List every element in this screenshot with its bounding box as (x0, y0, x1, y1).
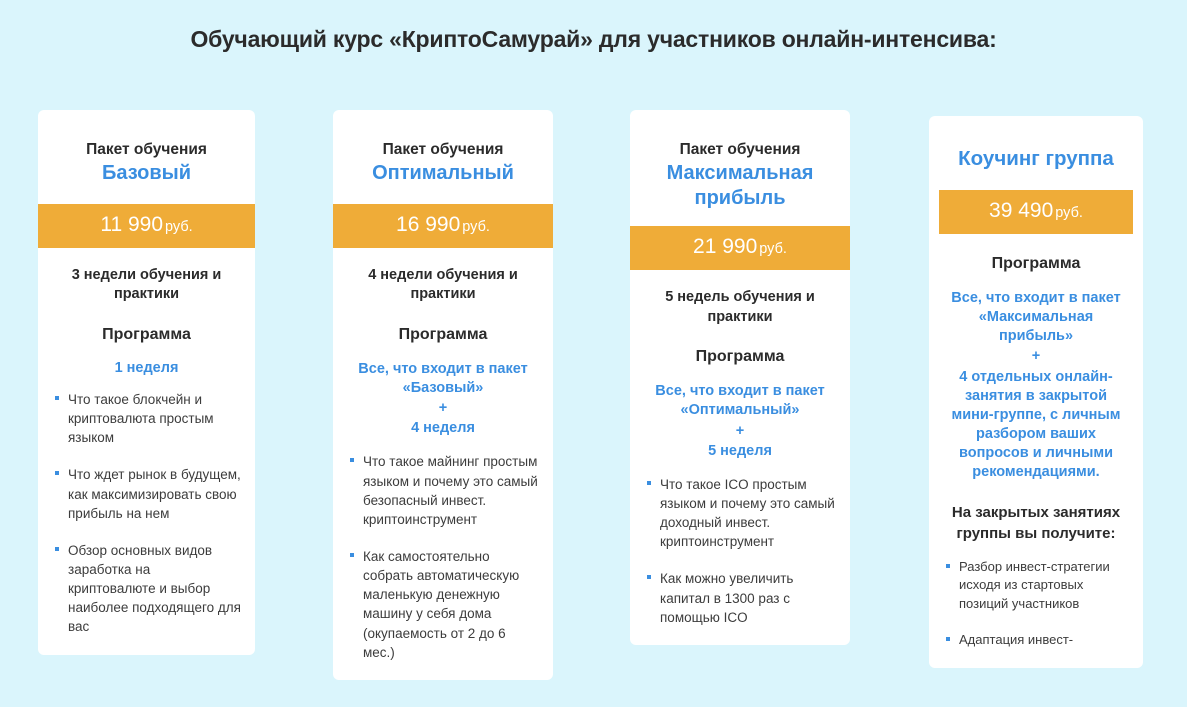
card-content: Коучинг группа (929, 116, 1143, 171)
bullet-dot-icon (647, 575, 651, 579)
bullet-dot-icon (55, 396, 59, 400)
program-heading: Программа (943, 234, 1129, 273)
list-item-text: Разбор инвест-стратегии исходя из старто… (959, 559, 1110, 611)
includes-block: Все, что входит в пакет «Максимальная пр… (943, 273, 1129, 482)
price-currency: руб. (163, 219, 193, 235)
section-subheading: На закрытых занятиях группы вы получите: (943, 482, 1129, 544)
course-duration: 4 недели обучения и практики (347, 248, 539, 305)
pricing-card-optimal[interactable]: Пакет обучения Оптимальный 16 990руб. 4 … (333, 110, 553, 680)
includes-block: Все, что входит в пакет «Оптимальный» + … (644, 366, 836, 461)
package-name: Максимальная прибыль (644, 159, 836, 210)
pricing-cards-row: Пакет обучения Базовый 11 990руб. 3 неде… (0, 110, 1187, 707)
includes-plus: + (943, 346, 1129, 367)
price-bar-wrapper: 39 490руб. (929, 190, 1143, 234)
list-item-text: Как можно увеличить капитал в 1300 раз с… (660, 571, 793, 624)
card-content-lower: 4 недели обучения и практики Программа В… (333, 248, 553, 662)
price-bar-wrapper: 21 990руб. (630, 226, 850, 270)
program-heading: Программа (644, 327, 836, 366)
bullet-dot-icon (55, 547, 59, 551)
feature-list: Что такое ICO простым языком и почему эт… (644, 461, 836, 627)
bullet-dot-icon (350, 458, 354, 462)
price-bar-wrapper: 11 990руб. (38, 204, 255, 248)
course-duration: 3 недели обучения и практики (52, 248, 241, 305)
list-item-text: Как самостоятельно собрать автоматическу… (363, 549, 519, 660)
card-content: Пакет обучения Максимальная прибыль (630, 110, 850, 210)
pricing-card-maximum-profit[interactable]: Пакет обучения Максимальная прибыль 21 9… (630, 110, 850, 645)
list-item-text: Что такое майнинг простым языком и почем… (363, 454, 538, 526)
feature-list: Разбор инвест-стратегии исходя из старто… (943, 544, 1129, 650)
includes-line-2: «Максимальная прибыль» (979, 309, 1093, 344)
bullet-dot-icon (55, 471, 59, 475)
program-heading: Программа (52, 305, 241, 344)
card-content-lower: 3 недели обучения и практики Программа 1… (38, 248, 255, 637)
list-item: Как можно увеличить капитал в 1300 раз с… (646, 569, 836, 626)
card-content-lower: 5 недель обучения и практики Программа В… (630, 270, 850, 627)
pricing-card-basic[interactable]: Пакет обучения Базовый 11 990руб. 3 неде… (38, 110, 255, 655)
package-label: Пакет обучения (347, 110, 539, 159)
list-item: Обзор основных видов заработка на крипто… (54, 541, 241, 637)
feature-list: Что такое майнинг простым языком и почем… (347, 438, 539, 662)
includes-plus: + (644, 421, 836, 442)
package-name: Оптимальный (347, 159, 539, 185)
price-amount: 21 990 (693, 235, 757, 258)
list-item-text: Что ждет рынок в будущем, как максимизир… (68, 467, 241, 520)
includes-line-2: «Базовый» (403, 380, 484, 396)
list-item: Что такое майнинг простым языком и почем… (349, 452, 539, 529)
bullet-dot-icon (350, 553, 354, 557)
pricing-page: Обучающий курс «КриптоСамурай» для участ… (0, 0, 1187, 707)
package-name: Коучинг группа (943, 116, 1129, 171)
price-amount: 16 990 (396, 213, 460, 236)
card-content: Пакет обучения Базовый (38, 110, 255, 186)
includes-line-1: Все, что входит в пакет (358, 361, 527, 377)
page-title: Обучающий курс «КриптоСамурай» для участ… (0, 26, 1187, 53)
price-badge: 39 490руб. (939, 190, 1133, 234)
list-item: Как самостоятельно собрать автоматическу… (349, 547, 539, 662)
package-label: Пакет обучения (644, 110, 836, 159)
price-currency: руб. (1053, 205, 1083, 221)
list-item-text: Что такое блокчейн и криптовалюта просты… (68, 392, 214, 445)
price-currency: руб. (757, 241, 787, 257)
list-item: Что такое блокчейн и криптовалюта просты… (54, 390, 241, 447)
package-name: Базовый (52, 159, 241, 185)
pricing-card-coaching-group[interactable]: Коучинг группа 39 490руб. Программа Все,… (929, 116, 1143, 668)
card-content-lower: Программа Все, что входит в пакет «Макси… (929, 234, 1143, 650)
list-item-text: Что такое ICO простым языком и почему эт… (660, 477, 835, 549)
price-currency: руб. (460, 219, 490, 235)
course-duration: 5 недель обучения и практики (644, 270, 836, 327)
includes-plus: + (347, 398, 539, 419)
price-badge: 11 990руб. (38, 204, 255, 248)
list-item: Адаптация инвест- (945, 631, 1129, 649)
bullet-dot-icon (946, 637, 950, 641)
price-badge: 21 990руб. (630, 226, 850, 270)
package-label: Пакет обучения (52, 110, 241, 159)
price-amount: 39 490 (989, 199, 1053, 222)
includes-line-1: Все, что входит в пакет (655, 383, 824, 399)
includes-line-1: Все, что входит в пакет (951, 290, 1120, 306)
feature-list: Что такое блокчейн и криптовалюта просты… (52, 376, 241, 637)
price-bar-wrapper: 16 990руб. (333, 204, 553, 248)
week-label: 1 неделя (52, 344, 241, 376)
bullet-dot-icon (647, 481, 651, 485)
list-item: Что ждет рынок в будущем, как максимизир… (54, 465, 241, 522)
list-item: Разбор инвест-стратегии исходя из старто… (945, 558, 1129, 613)
list-item: Что такое ICO простым языком и почему эт… (646, 475, 836, 552)
includes-block: Все, что входит в пакет «Базовый» + 4 не… (347, 344, 539, 439)
includes-extra: 4 отдельных онлайн-занятия в закрытой ми… (951, 369, 1120, 481)
list-item-text: Обзор основных видов заработка на крипто… (68, 543, 241, 635)
week-label: 4 неделя (411, 420, 475, 436)
price-badge: 16 990руб. (333, 204, 553, 248)
includes-line-2: «Оптимальный» (681, 402, 800, 418)
list-item-text: Адаптация инвест- (959, 632, 1073, 647)
program-heading: Программа (347, 305, 539, 344)
bullet-dot-icon (946, 564, 950, 568)
week-label: 5 неделя (708, 443, 772, 459)
card-content: Пакет обучения Оптимальный (333, 110, 553, 186)
price-amount: 11 990 (100, 213, 163, 236)
